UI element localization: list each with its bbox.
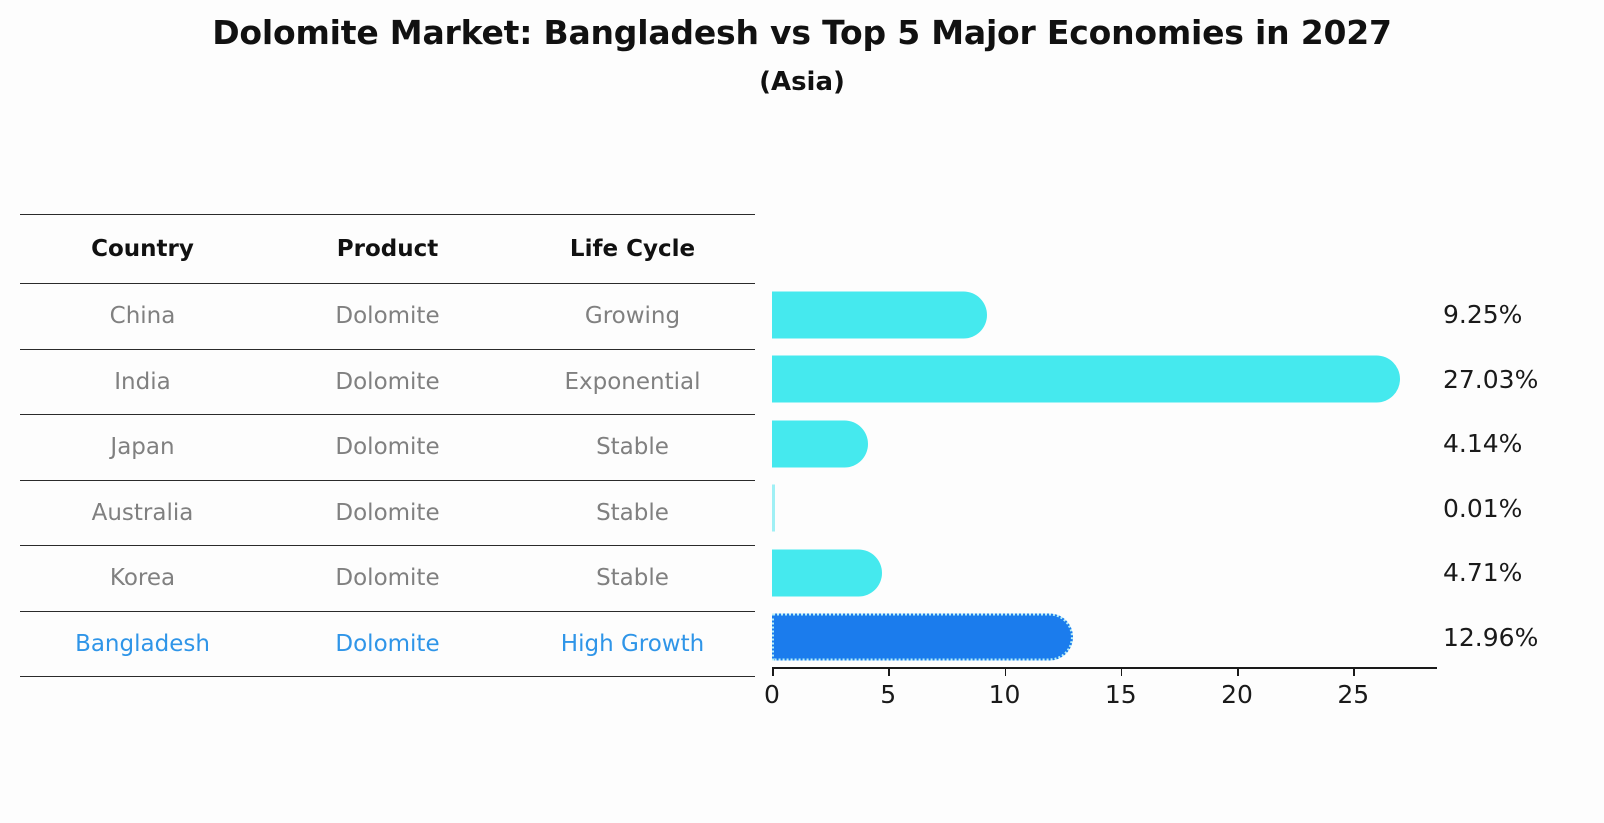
cell-life-cycle: Stable bbox=[510, 500, 755, 526]
bar-bangladesh[interactable] bbox=[772, 614, 1073, 661]
cell-product: Dolomite bbox=[265, 631, 510, 657]
column-header-country: Country bbox=[20, 236, 265, 262]
value-label: 4.71% bbox=[1443, 541, 1603, 606]
bar-row bbox=[772, 412, 1437, 477]
bar-row bbox=[772, 283, 1437, 348]
bar-chart: 0510152025 bbox=[772, 214, 1437, 684]
page-title: Dolomite Market: Bangladesh vs Top 5 Maj… bbox=[0, 14, 1604, 52]
bar-australia[interactable] bbox=[772, 485, 775, 532]
bar-row bbox=[772, 541, 1437, 606]
title-block: Dolomite Market: Bangladesh vs Top 5 Maj… bbox=[0, 14, 1604, 98]
x-axis-tick-label: 25 bbox=[1337, 680, 1369, 709]
cell-country: Japan bbox=[20, 434, 265, 460]
plot-area bbox=[772, 214, 1437, 667]
cell-product: Dolomite bbox=[265, 369, 510, 395]
value-label: 12.96% bbox=[1443, 605, 1603, 670]
cell-product: Dolomite bbox=[265, 500, 510, 526]
bar-korea[interactable] bbox=[772, 549, 882, 596]
table-row: Australia Dolomite Stable bbox=[20, 481, 755, 546]
value-label: 27.03% bbox=[1443, 347, 1603, 412]
chart-subtitle: (Asia) bbox=[0, 68, 1604, 98]
value-label: 9.25% bbox=[1443, 283, 1603, 348]
bar-india[interactable] bbox=[772, 356, 1400, 403]
x-axis-tick bbox=[1353, 667, 1355, 676]
table-row: India Dolomite Exponential bbox=[20, 350, 755, 415]
x-axis-tick-label: 20 bbox=[1221, 680, 1253, 709]
cell-life-cycle: High Growth bbox=[510, 631, 755, 657]
x-axis: 0510152025 bbox=[772, 667, 1437, 669]
x-axis-tick bbox=[1121, 667, 1123, 676]
x-axis-tick-label: 5 bbox=[880, 680, 896, 709]
bar-japan[interactable] bbox=[772, 420, 868, 467]
table-header-row: Country Product Life Cycle bbox=[20, 215, 755, 283]
x-axis-tick bbox=[1005, 667, 1007, 676]
bar-row bbox=[772, 347, 1437, 412]
cell-life-cycle: Growing bbox=[510, 303, 755, 329]
value-label: 0.01% bbox=[1443, 476, 1603, 541]
x-axis-tick-label: 0 bbox=[764, 680, 780, 709]
x-axis-tick bbox=[1237, 667, 1239, 676]
value-label: 4.14% bbox=[1443, 412, 1603, 477]
cell-product: Dolomite bbox=[265, 565, 510, 591]
cell-country: China bbox=[20, 303, 265, 329]
x-axis-tick-label: 15 bbox=[1105, 680, 1137, 709]
x-axis-tick-label: 10 bbox=[989, 680, 1021, 709]
cell-country: Korea bbox=[20, 565, 265, 591]
column-header-life-cycle: Life Cycle bbox=[510, 236, 755, 262]
x-axis-tick bbox=[772, 667, 774, 676]
cell-product: Dolomite bbox=[265, 434, 510, 460]
bar-row bbox=[772, 476, 1437, 541]
data-table: Country Product Life Cycle China Dolomit… bbox=[20, 214, 755, 677]
column-header-product: Product bbox=[265, 236, 510, 262]
cell-life-cycle: Stable bbox=[510, 565, 755, 591]
cell-product: Dolomite bbox=[265, 303, 510, 329]
value-label-column: 9.25% 27.03% 4.14% 0.01% 4.71% 12.96% bbox=[1443, 214, 1603, 670]
cell-country: India bbox=[20, 369, 265, 395]
table-row: Korea Dolomite Stable bbox=[20, 546, 755, 611]
cell-country: Bangladesh bbox=[20, 631, 265, 657]
cell-country: Australia bbox=[20, 500, 265, 526]
table-row: China Dolomite Growing bbox=[20, 284, 755, 349]
cell-life-cycle: Stable bbox=[510, 434, 755, 460]
table-row: Japan Dolomite Stable bbox=[20, 415, 755, 480]
bar-china[interactable] bbox=[772, 291, 987, 338]
bar-row bbox=[772, 605, 1437, 670]
x-axis-tick bbox=[888, 667, 890, 676]
table-row-highlighted: Bangladesh Dolomite High Growth bbox=[20, 612, 755, 677]
table-bottom-rule bbox=[20, 676, 755, 677]
cell-life-cycle: Exponential bbox=[510, 369, 755, 395]
